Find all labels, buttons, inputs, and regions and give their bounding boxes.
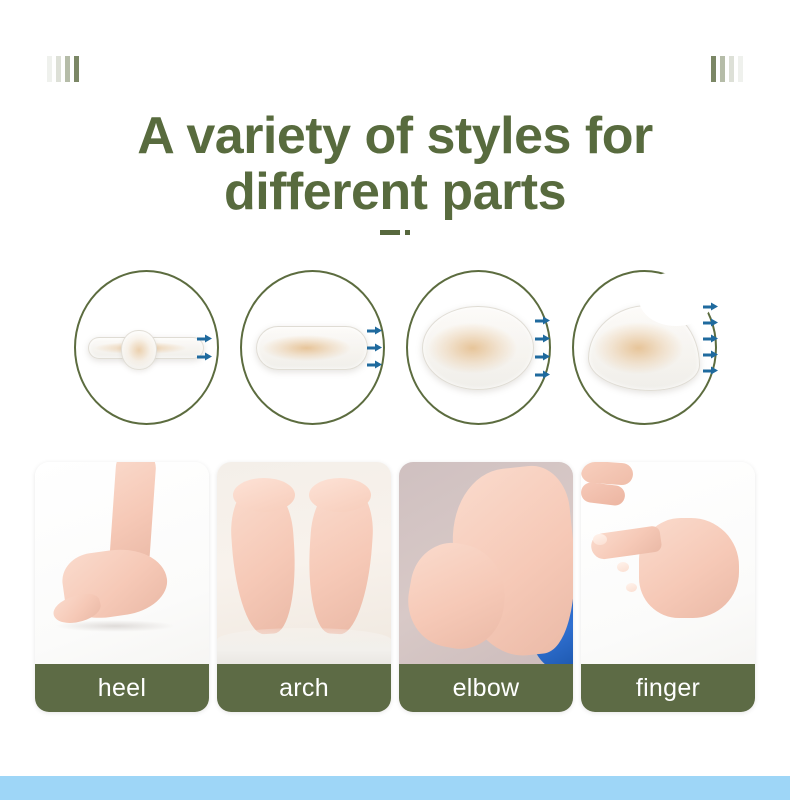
fingernail [593, 534, 607, 545]
product-circle-strip-patch[interactable] [74, 270, 219, 425]
product-circle-kidney-patch[interactable] [572, 270, 717, 425]
page-title-line-2: different parts [0, 164, 790, 220]
arrow-right-icon [535, 352, 550, 361]
absorption-arrows [535, 316, 550, 379]
patch-wrap [410, 293, 546, 403]
bandage-strip-patch-icon [88, 337, 204, 359]
right-toes-shape [309, 478, 371, 512]
fingernail [626, 583, 637, 592]
title-divider [0, 230, 790, 235]
product-circle-capsule-patch[interactable] [240, 270, 385, 425]
body-part-cards-row: heel arch elbow [0, 462, 790, 712]
arrow-right-icon [535, 334, 550, 343]
product-shapes-row [0, 270, 790, 430]
arrow-right-icon [703, 318, 718, 327]
arrow-right-icon [703, 350, 718, 359]
divider-dash [380, 230, 400, 235]
decor-bar [74, 56, 79, 82]
decor-bar [47, 56, 52, 82]
decor-bar [729, 56, 734, 82]
divider-dot [405, 230, 410, 235]
card-heel[interactable]: heel [35, 462, 209, 712]
card-label-finger: finger [581, 664, 755, 712]
towel-shape [217, 628, 391, 668]
patch-wrap [78, 293, 214, 403]
product-feature-banner: A variety of styles for different parts [0, 0, 790, 800]
product-circle-oval-patch[interactable] [406, 270, 551, 425]
card-arch[interactable]: arch [217, 462, 391, 712]
capsule-patch-icon [256, 326, 368, 370]
absorption-arrows [703, 302, 718, 375]
patch-wrap [576, 293, 712, 403]
decorative-bars-left [47, 56, 79, 82]
left-toes-shape [233, 478, 295, 512]
card-label-arch: arch [217, 664, 391, 712]
page-title: A variety of styles for different parts [0, 108, 790, 220]
fingernail [617, 562, 629, 572]
arrow-right-icon [197, 352, 212, 361]
card-elbow[interactable]: elbow [399, 462, 573, 712]
arrow-right-icon [535, 370, 550, 379]
page-title-line-1: A variety of styles for [0, 108, 790, 164]
decor-bar [711, 56, 716, 82]
card-label-heel: heel [35, 664, 209, 712]
arrow-right-icon [367, 343, 382, 352]
decor-bar [738, 56, 743, 82]
decor-bar [65, 56, 70, 82]
arrow-right-icon [367, 326, 382, 335]
patch-wrap [244, 293, 380, 403]
arrow-right-icon [703, 366, 718, 375]
card-label-elbow: elbow [399, 664, 573, 712]
arrow-right-icon [535, 316, 550, 325]
absorption-arrows [367, 326, 382, 369]
decor-bar [720, 56, 725, 82]
kidney-patch-icon [588, 305, 700, 391]
oval-patch-icon [422, 306, 534, 390]
arrow-right-icon [703, 302, 718, 311]
arrow-right-icon [367, 360, 382, 369]
arrow-right-icon [703, 334, 718, 343]
floor-shadow [55, 620, 175, 632]
decorative-bars-right [711, 56, 743, 82]
decor-bar [56, 56, 61, 82]
footer-accent-bar [0, 776, 790, 800]
absorption-arrows [197, 334, 212, 361]
arrow-right-icon [197, 334, 212, 343]
card-finger[interactable]: finger [581, 462, 755, 712]
ring-finger-shape [581, 481, 626, 506]
